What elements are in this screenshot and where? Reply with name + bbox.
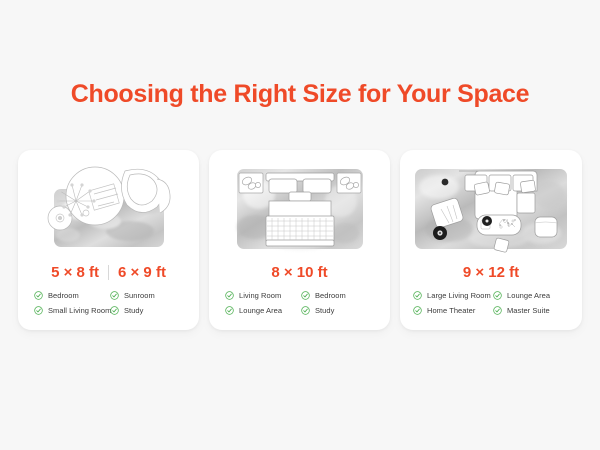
- feature-item: Large Living Room: [413, 291, 491, 300]
- feature-label: Large Living Room: [427, 291, 491, 300]
- feature-label: Study: [124, 306, 143, 315]
- nightstand-left: [239, 173, 263, 193]
- feature-list: Bedroom Sunroom Small Living Room: [27, 291, 190, 315]
- size-label-row: 8 × 10 ft: [218, 261, 381, 283]
- feature-label: Small Living Room: [48, 306, 111, 315]
- feature-item: Master Suite: [493, 306, 571, 315]
- size-card-5x8-6x9[interactable]: 5 × 8 ft 6 × 9 ft Bedroom: [18, 150, 199, 330]
- rug-diagram-svg: [30, 161, 188, 257]
- feature-item: Home Theater: [413, 306, 491, 315]
- feature-label: Study: [315, 306, 334, 315]
- feature-item: Study: [301, 306, 375, 315]
- feature-item: Lounge Area: [225, 306, 299, 315]
- size-card-8x10[interactable]: 8 × 10 ft Living Room Bedroom: [209, 150, 390, 330]
- feature-list: Large Living Room Lounge Area Home Theat…: [409, 291, 573, 315]
- size-card-9x12[interactable]: 9 × 12 ft Large Living Room Lounge Area: [400, 150, 582, 330]
- size-label-primary: 9 × 12 ft: [463, 264, 519, 281]
- feature-label: Lounge Area: [507, 291, 550, 300]
- check-circle-icon: [413, 291, 422, 300]
- page-title: Choosing the Right Size for Your Space: [0, 80, 600, 109]
- feature-item: Lounge Area: [493, 291, 571, 300]
- feature-label: Bedroom: [315, 291, 346, 300]
- feature-item: Study: [110, 306, 184, 315]
- size-card-list: 5 × 8 ft 6 × 9 ft Bedroom: [18, 150, 582, 330]
- size-label-primary: 8 × 10 ft: [271, 264, 327, 281]
- check-circle-icon: [34, 306, 43, 315]
- rug-illustration-large-living-room: [409, 160, 573, 258]
- size-label-row: 9 × 12 ft: [409, 261, 573, 283]
- feature-item: Bedroom: [301, 291, 375, 300]
- check-circle-icon: [301, 306, 310, 315]
- size-divider: [108, 265, 109, 280]
- rug-diagram-svg: [225, 161, 375, 257]
- rug-illustration-small-living-room: [27, 160, 190, 258]
- check-circle-icon: [34, 291, 43, 300]
- check-circle-icon: [225, 306, 234, 315]
- check-circle-icon: [493, 291, 502, 300]
- feature-label: Sunroom: [124, 291, 155, 300]
- feature-item: Living Room: [225, 291, 299, 300]
- check-circle-icon: [110, 291, 119, 300]
- feature-label: Lounge Area: [239, 306, 282, 315]
- check-circle-icon: [413, 306, 422, 315]
- nightstand-right: [337, 173, 361, 193]
- feature-item: Bedroom: [34, 291, 108, 300]
- side-stool: [535, 217, 557, 237]
- page-root: Choosing the Right Size for Your Space: [0, 0, 600, 450]
- size-label-secondary: 6 × 9 ft: [118, 264, 166, 281]
- check-circle-icon: [493, 306, 502, 315]
- size-label-row: 5 × 8 ft 6 × 9 ft: [27, 261, 190, 283]
- rug-illustration-bedroom: [218, 160, 381, 258]
- check-circle-icon: [225, 291, 234, 300]
- feature-label: Living Room: [239, 291, 281, 300]
- feature-label: Bedroom: [48, 291, 79, 300]
- feature-list: Living Room Bedroom Lounge Area: [218, 291, 381, 315]
- rug-diagram-svg: [409, 161, 573, 257]
- check-circle-icon: [301, 291, 310, 300]
- floor-pouf: [494, 238, 510, 253]
- feature-item: Sunroom: [110, 291, 184, 300]
- feature-item: Small Living Room: [34, 306, 108, 315]
- check-circle-icon: [110, 306, 119, 315]
- feature-label: Master Suite: [507, 306, 550, 315]
- feature-label: Home Theater: [427, 306, 475, 315]
- size-label-primary: 5 × 8 ft: [51, 264, 99, 281]
